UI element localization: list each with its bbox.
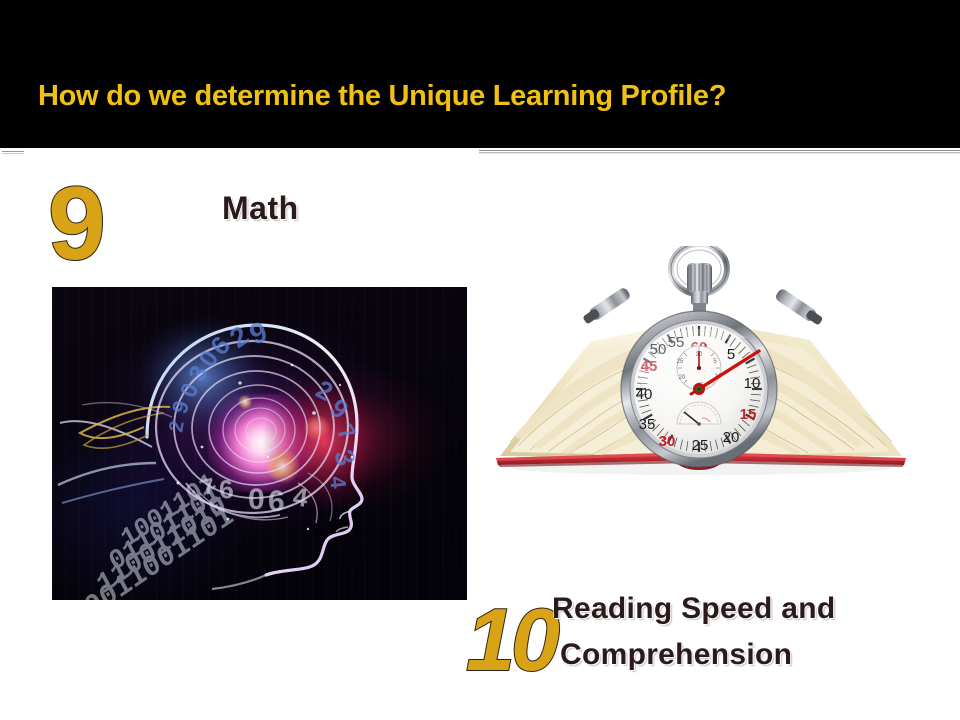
item-number-9: 9 — [48, 172, 104, 276]
svg-text:20: 20 — [723, 429, 740, 446]
svg-text:20: 20 — [679, 375, 686, 381]
slide-canvas: How do we determine the Unique Learning … — [0, 0, 960, 720]
divider-right — [479, 150, 960, 154]
svg-text:6: 6 — [268, 485, 285, 518]
item-label-reading-line1: Reading Speed and — [552, 592, 835, 625]
item-number-10: 10 — [466, 596, 556, 684]
item-label-reading-line2: Comprehension — [552, 632, 835, 678]
stopwatch-crown — [671, 246, 727, 313]
page-title: How do we determine the Unique Learning … — [38, 80, 726, 113]
brain-vector-overlay: 0 3 0 9 2 6 2 9 2 9 7 3 4 7 6 0 — [52, 287, 467, 600]
svg-text:35: 35 — [639, 416, 656, 433]
dial-number-15: 15 — [740, 406, 757, 423]
svg-text:5: 5 — [727, 346, 735, 363]
item-label-math: Math — [222, 190, 299, 227]
stopwatch-book-vector: 60 5 10 15 20 25 30 35 40 45 50 55 — [486, 246, 916, 486]
svg-text:25: 25 — [692, 437, 709, 454]
svg-text:25: 25 — [677, 359, 684, 365]
brain-numbers-image: 0 3 0 9 2 6 2 9 2 9 7 3 4 7 6 0 — [52, 287, 467, 600]
svg-text:10: 10 — [744, 375, 761, 392]
stopwatch-book-image: 60 5 10 15 20 25 30 35 40 45 50 55 — [486, 246, 916, 486]
divider-left — [2, 151, 24, 154]
item-label-reading: Reading Speed and Comprehension — [552, 586, 835, 678]
dial-number-30: 30 — [659, 433, 676, 450]
slide-header-bar — [0, 0, 960, 148]
svg-text:0: 0 — [248, 483, 265, 516]
